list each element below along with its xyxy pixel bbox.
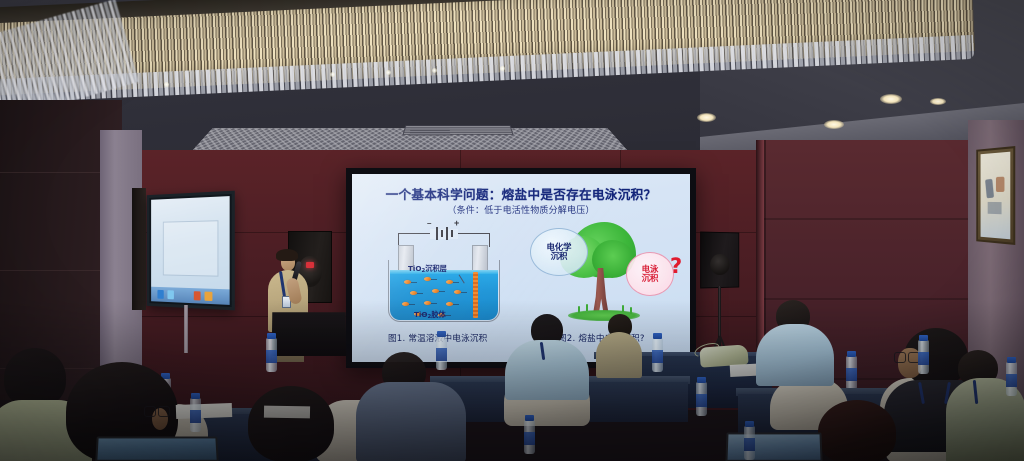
speaker-cone <box>710 253 729 275</box>
bottle-cap <box>697 377 706 383</box>
chandelier-sparkle <box>432 68 437 73</box>
colloid-label-tail: 胶体 <box>431 310 445 319</box>
colloid-particle <box>402 302 409 306</box>
monitor-stand-pole <box>184 305 188 353</box>
slide-title: 一个基本科学问题：熔盐中是否存在电泳沉积？ <box>352 184 690 203</box>
painting-canvas <box>981 152 1011 240</box>
audience-head <box>818 400 896 461</box>
bottle-label <box>846 368 857 381</box>
chandelier-sparkle <box>500 66 505 71</box>
ceiling-downlight <box>930 98 946 105</box>
colloid-particle <box>424 301 431 305</box>
colloid-label: TiO2胶体 <box>414 310 446 320</box>
bottle-label <box>266 350 277 363</box>
monitor-taskbar-icon <box>194 292 201 301</box>
bottle-label <box>524 432 535 445</box>
monitor-taskbar-icon <box>157 290 164 298</box>
water-bottle <box>744 426 755 460</box>
podium-equipment <box>272 312 347 356</box>
colloid-particle <box>454 290 461 294</box>
colloid-label-text: TiO <box>414 310 427 319</box>
bottle-cap <box>847 351 856 357</box>
audience-torso <box>756 324 834 386</box>
grass-blade <box>630 307 632 314</box>
slide-subtitle: （条件：低于电活性物质分解电压） <box>352 203 690 216</box>
bubble-red-line2: 沉积 <box>642 274 659 283</box>
question-mark: ? <box>670 254 682 278</box>
water-bottle <box>1006 362 1017 396</box>
monitor-taskbar-icon <box>167 291 174 300</box>
ceiling-downlight <box>880 94 902 104</box>
water-bottle <box>918 340 929 374</box>
eyeglasses <box>144 406 170 415</box>
bottle-cap <box>919 335 928 341</box>
deposit-label-text: TiO <box>408 264 421 273</box>
paper-sheet <box>264 406 310 419</box>
grass-blade <box>578 306 580 313</box>
anode-sign: + <box>454 218 459 228</box>
water-bottle <box>846 356 857 390</box>
colloid-particle <box>424 277 431 281</box>
grass-blade <box>622 305 624 312</box>
pa-speaker-right <box>700 232 739 289</box>
battery-plate <box>436 227 438 240</box>
framed-scroll-painting <box>976 146 1015 245</box>
ceiling-downlight <box>824 120 844 129</box>
presenter-hair-bun <box>276 249 298 261</box>
bottle-cap <box>191 393 200 399</box>
audience-member <box>356 352 466 461</box>
bottle-cap <box>267 333 276 339</box>
audience-torso <box>505 340 589 400</box>
painting-brushstroke <box>987 202 1001 214</box>
bottle-label <box>696 394 707 407</box>
bubble-blue-line2: 沉积 <box>551 252 568 261</box>
monitor-taskbar-icon <box>205 292 212 301</box>
battery-plate <box>446 227 448 240</box>
audience-head <box>248 386 334 461</box>
audience-member <box>756 300 834 384</box>
deposit-layer <box>473 272 478 318</box>
bottle-label <box>652 350 663 363</box>
bottle-label <box>1006 374 1017 387</box>
chandelier-sparkle <box>330 72 335 77</box>
colloid-particle <box>404 280 411 284</box>
conference-room-photo: 一个基本科学问题：熔盐中是否存在电泳沉积？ （条件：低于电活性物质分解电压） –… <box>0 0 1024 461</box>
painting-brushstroke <box>996 176 1005 192</box>
air-conditioning-vent-small <box>410 129 451 136</box>
grass-blade <box>586 304 588 311</box>
chandelier-sparkle <box>164 82 169 87</box>
bottle-cap <box>653 333 662 339</box>
colloid-particle <box>410 291 417 295</box>
battery-plate <box>451 230 453 237</box>
paper-sheet <box>176 403 232 419</box>
bottle-cap <box>525 415 534 421</box>
wall-monitor[interactable] <box>147 191 235 311</box>
monitor-window <box>163 220 218 276</box>
laptop[interactable] <box>95 437 218 461</box>
audience-member <box>505 318 589 388</box>
bottle-cap <box>745 421 754 427</box>
cathode-sign: – <box>427 219 431 228</box>
audience-torso <box>596 332 642 378</box>
water-bottle <box>266 338 277 372</box>
monitor-wall-mount <box>132 188 146 310</box>
water-bottle <box>652 338 663 372</box>
colloid-particle <box>432 289 439 293</box>
ceiling-downlight <box>697 113 716 122</box>
laptop[interactable] <box>725 433 822 461</box>
audience-member <box>596 314 642 374</box>
bottle-cap <box>1007 357 1016 363</box>
water-bottle <box>190 398 201 432</box>
audience-member <box>812 400 908 461</box>
water-bottle <box>696 382 707 416</box>
bottle-label <box>918 352 929 365</box>
figure-electrodeposition-cell: – + TiO2沉积层 TiO2胶体 <box>384 220 504 328</box>
battery-plate <box>441 230 443 237</box>
colloid-particle <box>446 280 453 284</box>
deposit-layer-label: TiO2沉积层 <box>408 264 447 274</box>
bottle-label <box>744 438 755 451</box>
monitor-screen <box>151 196 230 305</box>
chandelier-sparkle <box>386 70 391 75</box>
water-bottle <box>524 420 535 454</box>
bubble-electrochemical-deposition: 电化学 沉积 <box>530 228 588 276</box>
eyeglasses[interactable] <box>894 352 920 361</box>
audience-torso <box>356 382 466 461</box>
deposit-label-tail: 沉积层 <box>425 264 447 273</box>
bubble-electrophoretic-deposition: 电泳 沉积 <box>626 252 674 296</box>
colloid-particle <box>446 302 453 306</box>
painting-brushstroke <box>985 178 994 197</box>
audience-member <box>230 386 360 461</box>
bottle-cap <box>437 331 446 337</box>
battery-gap <box>430 229 458 239</box>
bottle-label <box>190 410 201 423</box>
